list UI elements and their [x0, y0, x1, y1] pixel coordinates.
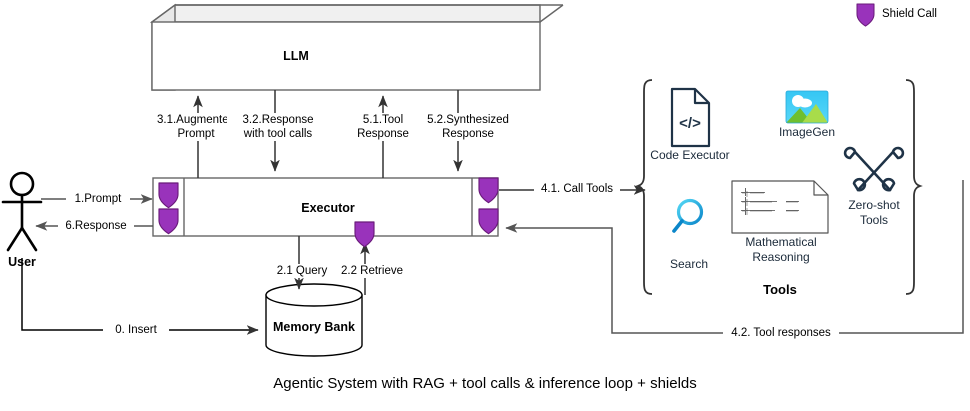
svg-text:</>: </> — [679, 115, 701, 132]
image-generation-icon — [786, 91, 828, 123]
magnifying-glass-icon — [674, 201, 702, 232]
tool-label-imagegen: ImageGen — [752, 125, 862, 140]
tool-label-zero-shot-tools: Zero-shot Tools — [824, 198, 924, 228]
edge-label-retrieve: 2.2 Retrieve — [332, 264, 412, 278]
edge-label-tool-responses: 4.2. Tool responses — [723, 326, 839, 340]
executor-label: Executor — [268, 201, 388, 215]
user-actor[interactable] — [3, 173, 41, 250]
tools-group-label: Tools — [720, 282, 840, 297]
edge-label-response: 6.Response — [58, 219, 134, 233]
edge-label-tool-response: 5.1.Tool Response — [340, 113, 426, 141]
llm-node[interactable] — [152, 5, 563, 90]
edge-label-query: 2.1 Query — [269, 264, 335, 278]
edge-label-insert: 0. Insert — [103, 323, 169, 337]
code-document-icon: </> — [672, 89, 709, 146]
edge-label-call-tools: 4.1. Call Tools — [534, 182, 620, 196]
diagram-caption: Agentic System with RAG + tool calls & i… — [0, 375, 970, 392]
tool-label-mathematical-reasoning: Mathematical Reasoning — [716, 235, 846, 265]
tool-label-code-executor: Code Executor — [630, 148, 750, 163]
diagram-canvas: </> — [0, 0, 970, 411]
user-label: User — [0, 255, 62, 269]
tools-right-brace — [906, 80, 920, 294]
edge-label-prompt: 1.Prompt — [66, 192, 130, 206]
legend-shield-call-label: Shield Call — [882, 8, 937, 20]
crossed-wrenches-icon — [845, 148, 903, 190]
shield-icon — [355, 222, 374, 247]
shield-icon — [857, 4, 874, 26]
memory-bank-label: Memory Bank — [244, 320, 384, 334]
math-document-icon — [732, 181, 828, 233]
llm-label: LLM — [246, 49, 346, 63]
edge-label-synthesized-response: 5.2.Synthesized Response — [416, 113, 520, 141]
edge-label-response-with-tool-calls: 3.2.Response with tool calls — [227, 113, 329, 141]
